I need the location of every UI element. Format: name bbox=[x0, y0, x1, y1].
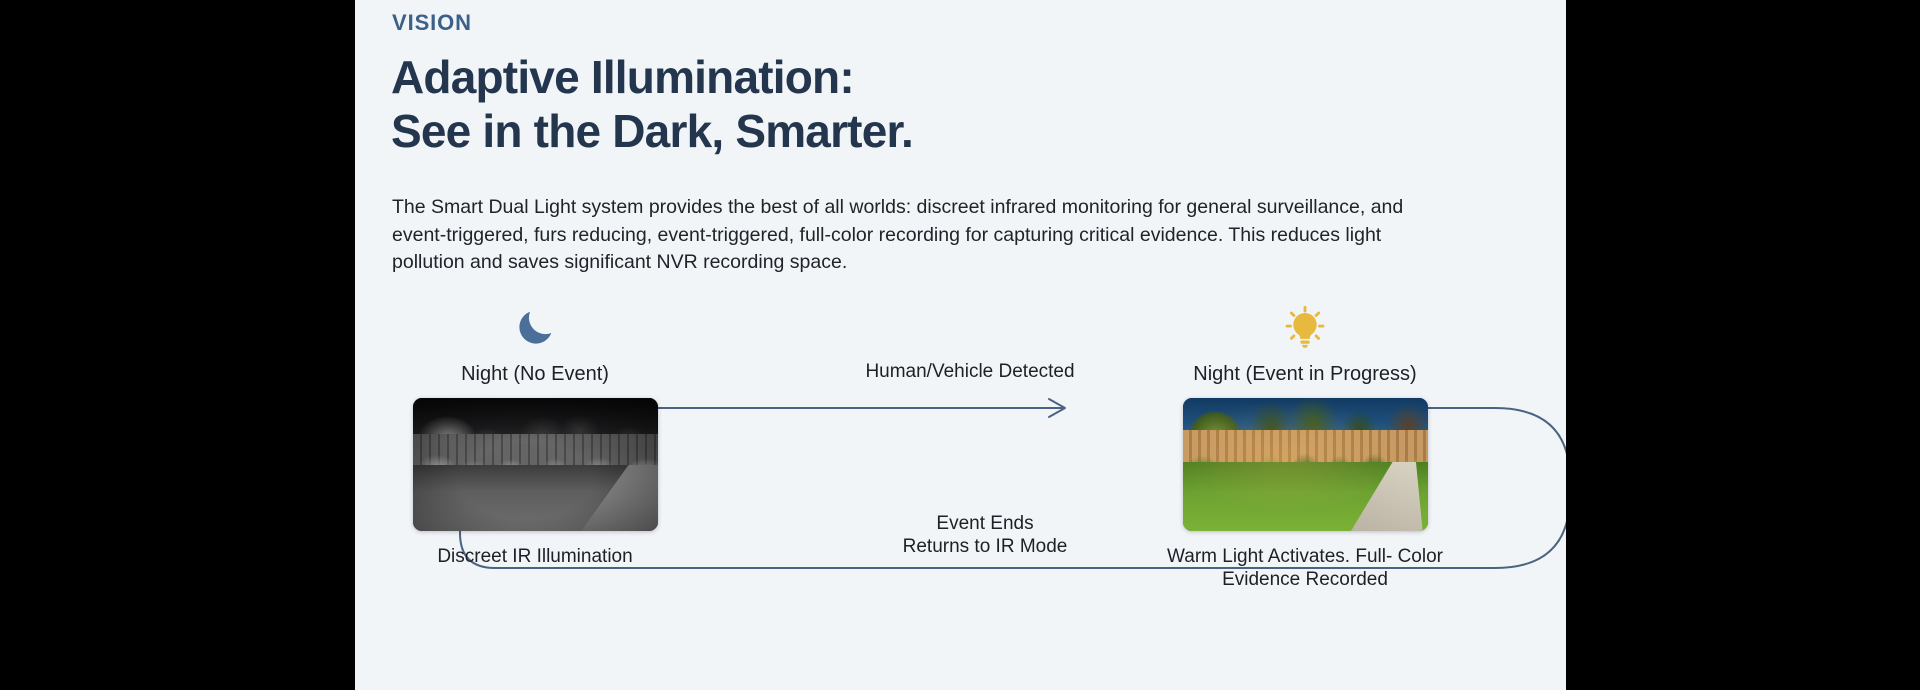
color-night-thumbnail bbox=[1183, 398, 1428, 531]
flow-node-caption: Warm Light Activates. Full- Color Eviden… bbox=[1155, 545, 1455, 591]
ir-scene bbox=[413, 398, 658, 531]
ir-night-thumbnail bbox=[413, 398, 658, 531]
headline-line-1: Adaptive Illumination: bbox=[391, 51, 854, 103]
caption-line-1: Warm Light Activates. Full- bbox=[1167, 546, 1392, 567]
content-panel: VISION Adaptive Illumination: See in the… bbox=[355, 0, 1566, 690]
flow-node-title: Night (No Event) bbox=[385, 362, 685, 386]
headline-line-2: See in the Dark, Smarter. bbox=[391, 104, 1391, 158]
edge-label-human-vehicle-detected: Human/Vehicle Detected bbox=[755, 360, 1185, 383]
section-eyebrow: VISION bbox=[392, 10, 472, 36]
color-scene bbox=[1183, 398, 1428, 531]
flow-node-night-event-in-progress: Night (Event in Progress) Warm Light Act… bbox=[1155, 300, 1455, 591]
slide-canvas: VISION Adaptive Illumination: See in the… bbox=[0, 0, 1920, 690]
edge-label-event-ends: Event Ends Returns to IR Mode bbox=[835, 512, 1135, 558]
edge-label-line-2: Returns to IR Mode bbox=[845, 535, 1125, 558]
letterbox-right bbox=[1566, 0, 1920, 690]
moon-icon bbox=[385, 300, 685, 356]
page-title: Adaptive Illumination: See in the Dark, … bbox=[391, 50, 1391, 159]
flow-node-night-no-event: Night (No Event) Discreet IR Illuminatio… bbox=[385, 300, 685, 568]
ir-vignette bbox=[413, 398, 658, 531]
lightbulb-icon bbox=[1155, 300, 1455, 356]
warm-light-glow bbox=[1183, 398, 1428, 531]
flow-node-title: Night (Event in Progress) bbox=[1155, 362, 1455, 386]
letterbox-left bbox=[0, 0, 355, 690]
adaptive-illumination-flow-diagram: Night (No Event) Discreet IR Illuminatio… bbox=[355, 300, 1566, 690]
flow-node-caption: Discreet IR Illumination bbox=[385, 545, 685, 568]
body-paragraph: The Smart Dual Light system provides the… bbox=[392, 194, 1412, 277]
edge-label-line-1: Event Ends bbox=[936, 513, 1033, 534]
